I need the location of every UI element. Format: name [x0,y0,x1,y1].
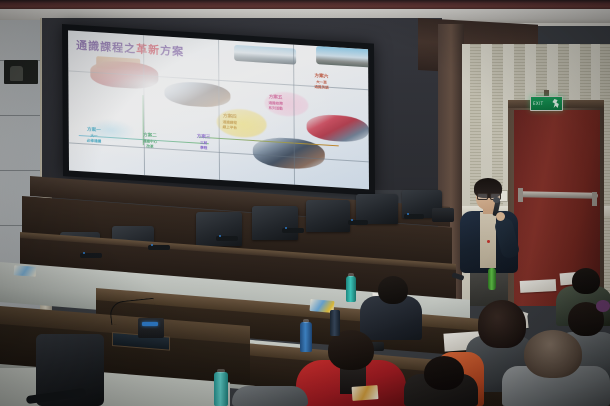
handout-paper-2[interactable] [520,279,557,293]
empty-chair-5[interactable] [306,200,350,232]
desk-microphone-5[interactable] [348,220,368,225]
left-niche-object [10,66,23,81]
slide-title: 通識課程之革新方案 [76,37,184,60]
slide-label-1: 方案一 大一 必修通識 [87,128,101,145]
slide-photo-group-b [164,80,230,108]
projection-screen: 通識課程之革新方案 方案一 大一 必修通識 方案二 通識中心 改革 方案三 三創… [68,30,369,189]
slide-label-3-line2: 學程 [200,146,207,150]
desk-microphone-1[interactable] [80,253,102,258]
slide-photo-top-left [234,45,296,65]
presenter-lapel-pin [487,240,490,243]
running-person-icon [552,99,560,108]
desk-microphone-3[interactable] [216,236,238,241]
slide-title-plain: 通識課程之 [76,39,136,56]
microphone-head [493,197,500,203]
slide-label-1-num: 方案一 [87,128,101,134]
hair-clip [596,300,610,312]
presenter-hand [496,212,505,221]
exit-sign: EXIT [530,96,563,111]
door-push-bar-mount-right [592,192,597,206]
video-wall-bezel-v2 [218,40,220,180]
empty-chair-4[interactable] [252,206,298,240]
slide-label-3-line1: 三創 [200,141,207,145]
laser-pointer[interactable] [452,272,465,280]
video-wall: 通識課程之革新方案 方案一 大一 必修通識 方案二 通識中心 改革 方案三 三創… [62,24,375,196]
navy-bottle[interactable] [330,310,340,336]
slide-label-5-line2: 系列活動 [268,106,282,111]
blue-water-bottle[interactable] [300,322,312,352]
mic-status-led [142,322,158,326]
slide-label-3-num: 方案三 [197,134,211,140]
desk-microphone-2[interactable] [148,245,170,250]
slide-photo-group-c [307,113,369,143]
slide-label-5: 方案五 通識校際 系列活動 [268,95,282,112]
brochure-2[interactable] [352,385,379,401]
mic-control-unit[interactable] [138,318,164,338]
slide-label-3: 方案三 三創 學程 [197,134,211,151]
exit-sign-label: EXIT [533,102,544,106]
slide-label-2-line1: 通識中心 [143,139,157,144]
slide-label-6-num: 方案六 [315,74,329,80]
slide-photo-top-right [316,46,369,68]
desk-microphone-6[interactable] [404,214,424,219]
brochure-3[interactable] [14,265,37,277]
cyan-thermos-bottle[interactable] [214,372,228,406]
desk-microphone-4[interactable] [282,228,304,233]
side-monitor [432,208,454,222]
slide-title-tail: 方案 [160,44,184,59]
slide-title-highlight: 革新 [136,43,160,58]
teal-thermos-bottle[interactable] [346,276,356,302]
lecture-hall-photo: EXIT 通識課程之革新方案 [0,0,610,406]
green-bottle[interactable] [488,268,496,290]
slide-label-6: 方案六 大一至 通識英語 [314,74,328,91]
slide-label-4-line2: 線上平台 [223,125,237,130]
slide-label-2-num: 方案二 [143,133,157,139]
slide-label-4-num: 方案四 [223,114,237,120]
slide-label-5-num: 方案五 [269,95,283,101]
glasses-icon-left-lens [477,193,488,200]
slide-label-1-line1: 大一 [90,134,97,138]
slide-label-4: 方案四 通識課程 線上平台 [223,114,237,131]
